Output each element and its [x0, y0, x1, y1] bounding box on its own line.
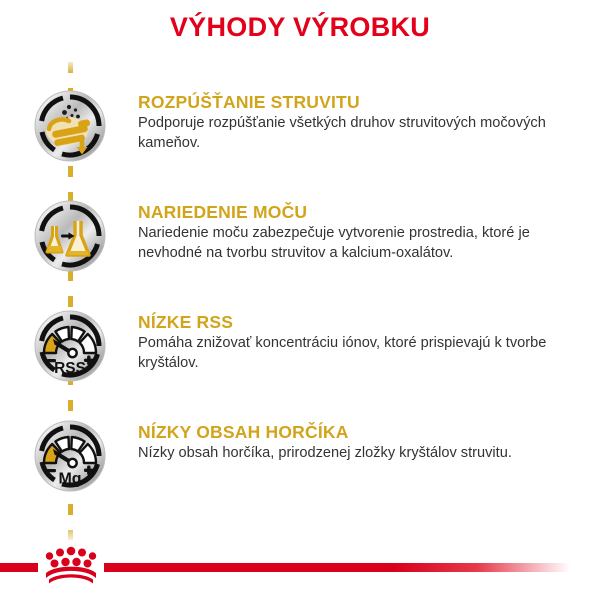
benefit-text-container: NÍZKE RSS Pomáha znižovať koncentráciu i… — [138, 312, 568, 373]
connector-fade-bottom — [64, 524, 77, 544]
benefit-body: Nízky obsah horčíka, prirodzenej zložky … — [138, 444, 568, 464]
royal-canin-crown-logo — [38, 542, 104, 586]
benefit-body: Nariedenie moču zabezpečuje vytvorenie p… — [138, 224, 568, 263]
page-title: VÝHODY VÝROBKU — [0, 12, 600, 43]
rss-gauge-icon: RSS — [34, 310, 106, 382]
product-benefits-infographic: VÝHODY VÝROBKU — [0, 0, 600, 600]
benefit-body: Pomáha znižovať koncentráciu iónov, ktor… — [138, 334, 568, 373]
benefit-icon-container — [34, 90, 106, 162]
gauge-plus-sign — [87, 466, 90, 476]
footer-rule-right — [104, 563, 570, 572]
footer — [0, 556, 600, 578]
dissolving-crystals-icon — [34, 90, 106, 162]
benefit-body: Podporuje rozpúšťanie všetkých druhov st… — [138, 114, 568, 153]
benefit-title: NÍZKY OBSAH HORČÍKA — [138, 422, 568, 442]
benefit-text-container: NARIEDENIE MOČU Nariedenie moču zabezpeč… — [138, 202, 568, 263]
benefit-text-container: ROZPÚŠŤANIE STRUVITU Podporuje rozpúšťan… — [138, 92, 568, 153]
benefit-icon-container: Mg — [34, 420, 106, 492]
benefit-title: ROZPÚŠŤANIE STRUVITU — [138, 92, 568, 112]
footer-rule-left — [0, 563, 38, 572]
benefit-title: NARIEDENIE MOČU — [138, 202, 568, 222]
gauge-label: RSS — [54, 360, 86, 377]
benefit-text-container: NÍZKY OBSAH HORČÍKA Nízky obsah horčíka,… — [138, 422, 568, 464]
magnesium-gauge-icon: Mg — [34, 420, 106, 492]
benefit-icon-container — [34, 200, 106, 272]
benefit-icon-container: RSS — [34, 310, 106, 382]
urine-dilution-flasks-icon — [34, 200, 106, 272]
gauge-plus-sign — [87, 356, 90, 366]
benefit-title: NÍZKE RSS — [138, 312, 568, 332]
gauge-minus-sign — [47, 469, 56, 472]
connector-fade-top — [64, 58, 77, 74]
gauge-label: Mg — [58, 471, 81, 488]
